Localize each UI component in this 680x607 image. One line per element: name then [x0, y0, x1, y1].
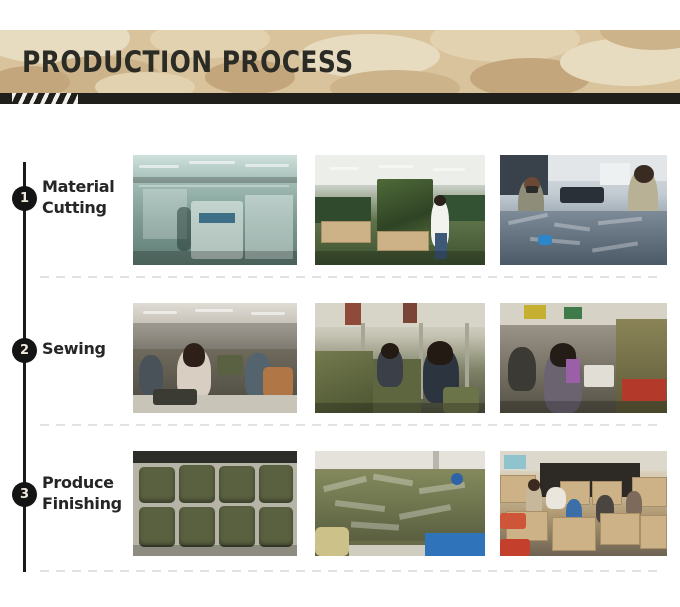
step-label-2-line1: Sewing — [42, 338, 128, 359]
photo-sewing-3 — [500, 303, 667, 413]
step-badge-3: 3 — [12, 482, 37, 507]
photo-material-cutting-3 — [500, 155, 667, 265]
divider-after-step-1 — [40, 276, 662, 278]
step-label-1-line2: Cutting — [42, 197, 128, 218]
production-process-page: PRODUCTION PROCESS 1 2 3 Material Cuttin… — [0, 0, 680, 607]
divider-after-step-2 — [40, 424, 662, 426]
photo-produce-finishing-1 — [133, 451, 297, 556]
photo-sewing-2 — [315, 303, 485, 413]
photo-sewing-1 — [133, 303, 297, 413]
step-badge-2: 2 — [12, 338, 37, 363]
photo-produce-finishing-3 — [500, 451, 667, 556]
page-title: PRODUCTION PROCESS — [22, 30, 538, 93]
header-dark-bar — [0, 93, 680, 104]
photo-material-cutting-2 — [315, 155, 485, 265]
step-label-3-line2: Finishing — [42, 493, 128, 514]
timeline-vertical-line — [23, 162, 26, 572]
step-label-1-line1: Material — [42, 176, 128, 197]
step-badge-1: 1 — [12, 186, 37, 211]
divider-after-step-3 — [40, 570, 662, 572]
step-label-1: Material Cutting — [42, 176, 128, 218]
step-label-3: Produce Finishing — [42, 472, 128, 514]
photo-material-cutting-1 — [133, 155, 297, 265]
photo-produce-finishing-2 — [315, 451, 485, 556]
header-diagonal-stripes — [12, 93, 78, 104]
step-label-2: Sewing — [42, 338, 128, 359]
step-label-3-line1: Produce — [42, 472, 128, 493]
